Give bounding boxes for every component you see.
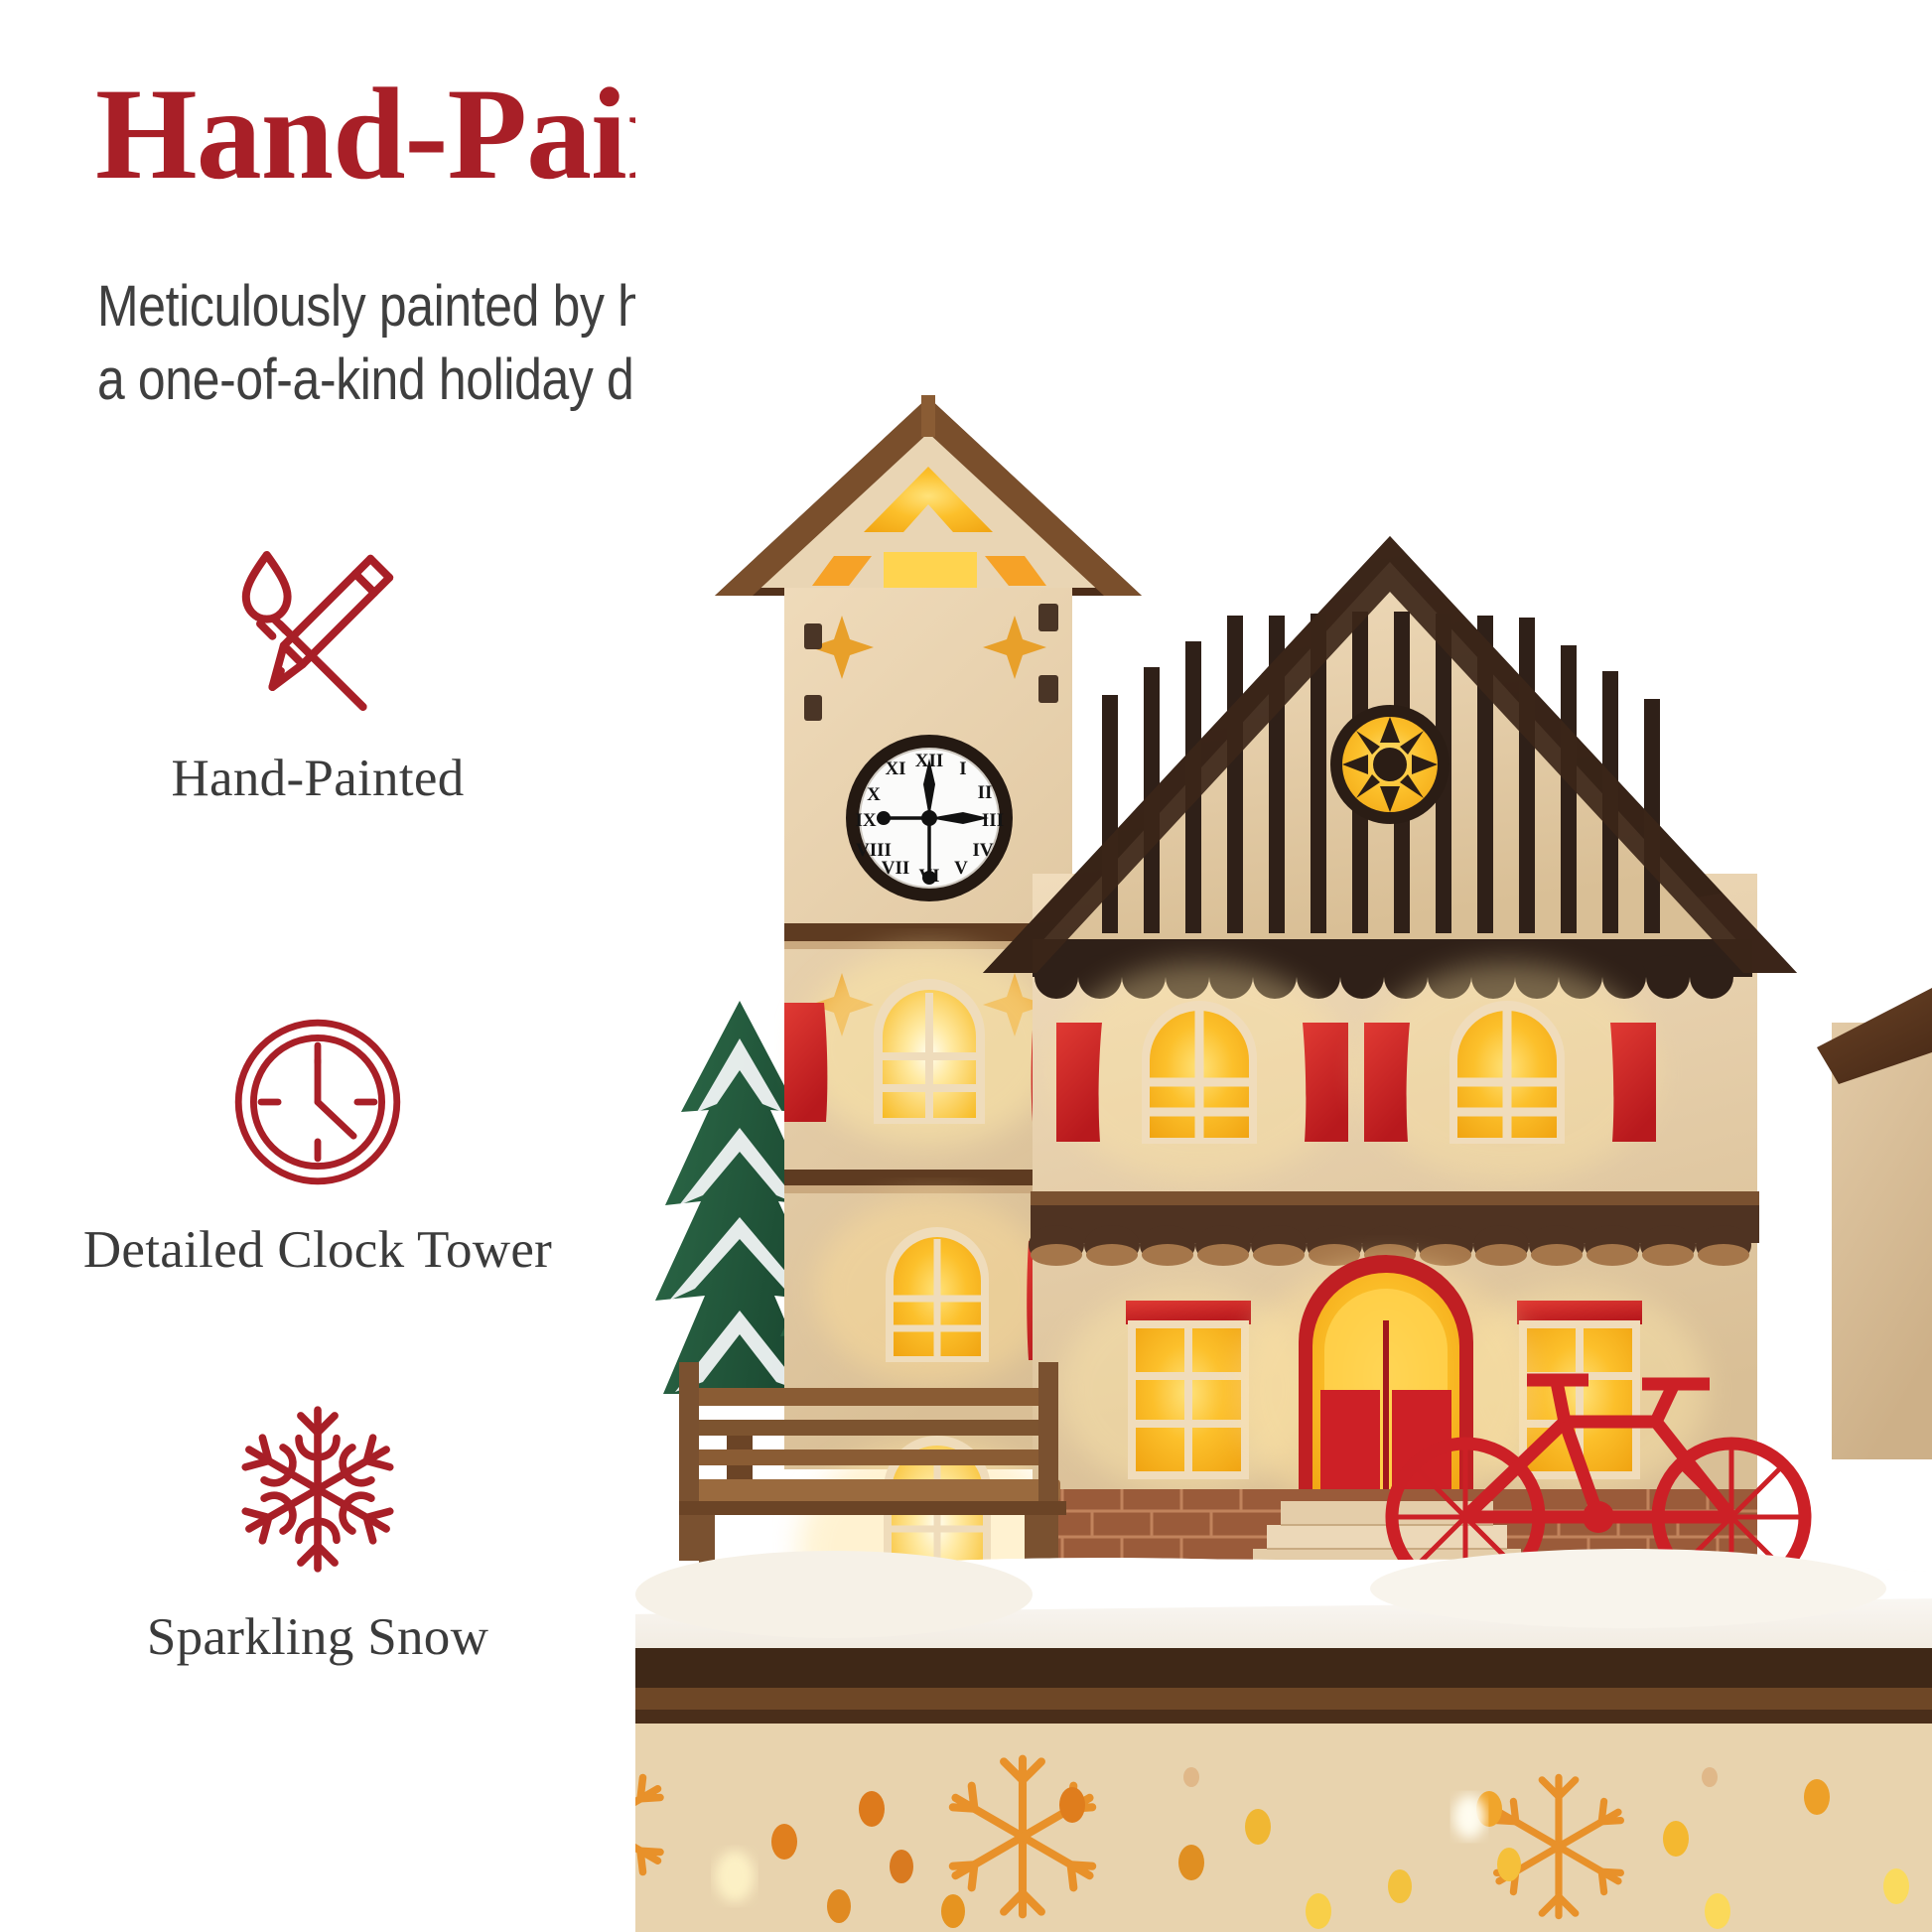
product-illustration: XII I II III IV V VI VII VIII IX X XI [635, 0, 1932, 1932]
svg-text:VII: VII [882, 858, 910, 879]
sunburst-gable-vent [1330, 705, 1449, 824]
snowflake-icon [223, 1395, 412, 1584]
svg-text:II: II [978, 782, 993, 803]
paintbrush-pencil-icon [223, 536, 412, 725]
feature-label-sparkling-snow: Sparkling Snow [0, 1607, 635, 1667]
svg-text:V: V [954, 858, 968, 879]
feature-label-hand-painted: Hand-Painted [0, 749, 635, 808]
feature-item-clock-tower: Detailed Clock Tower [0, 1008, 635, 1280]
product-photo: XII I II III IV V VI VII VIII IX X XI [635, 0, 1932, 1932]
svg-text:X: X [867, 784, 881, 805]
clock-icon [223, 1008, 412, 1196]
feature-item-sparkling-snow: Sparkling Snow [0, 1395, 635, 1667]
feature-item-hand-painted: Hand-Painted [0, 536, 635, 808]
svg-text:IX: IX [855, 810, 876, 831]
upper-window-right [1360, 963, 1658, 1181]
svg-text:IV: IV [972, 840, 993, 861]
svg-text:III: III [982, 810, 1004, 831]
neighbour-building [1817, 988, 1932, 1459]
feature-label-clock-tower: Detailed Clock Tower [0, 1220, 635, 1280]
svg-text:VIII: VIII [856, 840, 892, 861]
tower-clock-face: XII I II III IV V VI VII VIII IX X XI [846, 735, 1013, 901]
svg-text:XI: XI [885, 759, 905, 779]
base-plinth [635, 1648, 1932, 1932]
svg-text:I: I [959, 759, 966, 779]
upper-window-left [1052, 963, 1350, 1181]
